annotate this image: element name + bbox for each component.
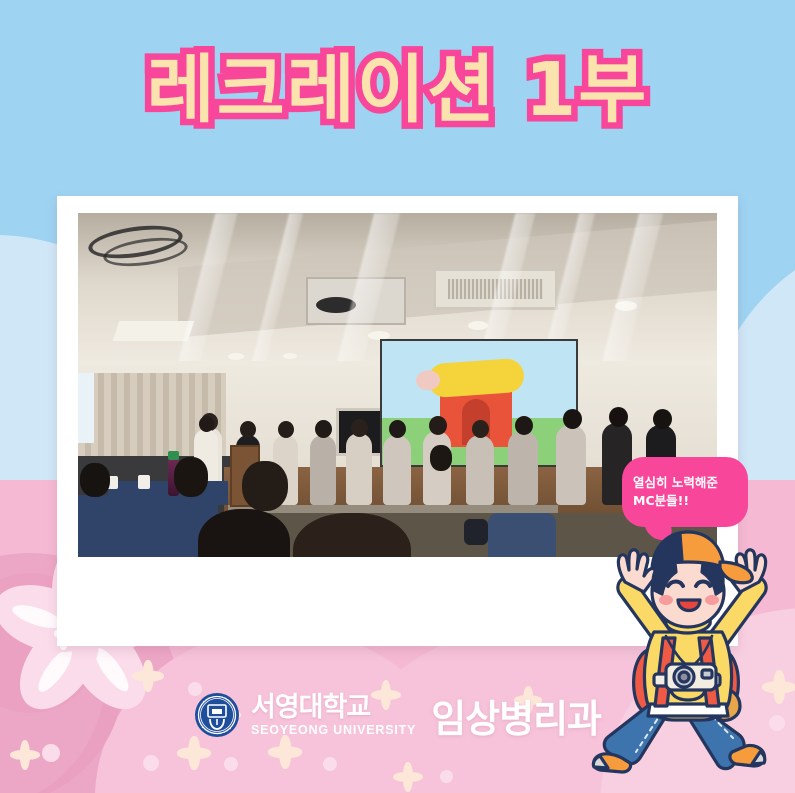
dot-decoration — [323, 757, 337, 771]
title-container: 레크레이션 1부 — [0, 52, 795, 130]
speech-bubble: 열심히 노력해준 MC분들!! — [622, 457, 748, 527]
dot-decoration — [143, 755, 159, 771]
bubble-line-1: 열심히 노력해준 — [633, 474, 737, 492]
university-logo-icon — [194, 692, 240, 738]
bubble-line-2: MC분들!! — [633, 492, 737, 510]
sparkle-icon — [393, 762, 423, 792]
jumping-character-illustration — [570, 520, 795, 775]
university-name-block: 서영대학교 SEOYEONG UNIVERSITY — [251, 694, 416, 737]
university-name-ko: 서영대학교 — [251, 694, 370, 721]
dot-decoration — [224, 757, 238, 771]
poster-card: 레크레이션 1부 — [0, 0, 795, 793]
dot-decoration — [440, 770, 453, 783]
university-name-en: SEOYEONG UNIVERSITY — [251, 724, 416, 737]
page-title: 레크레이션 1부 — [147, 52, 649, 130]
